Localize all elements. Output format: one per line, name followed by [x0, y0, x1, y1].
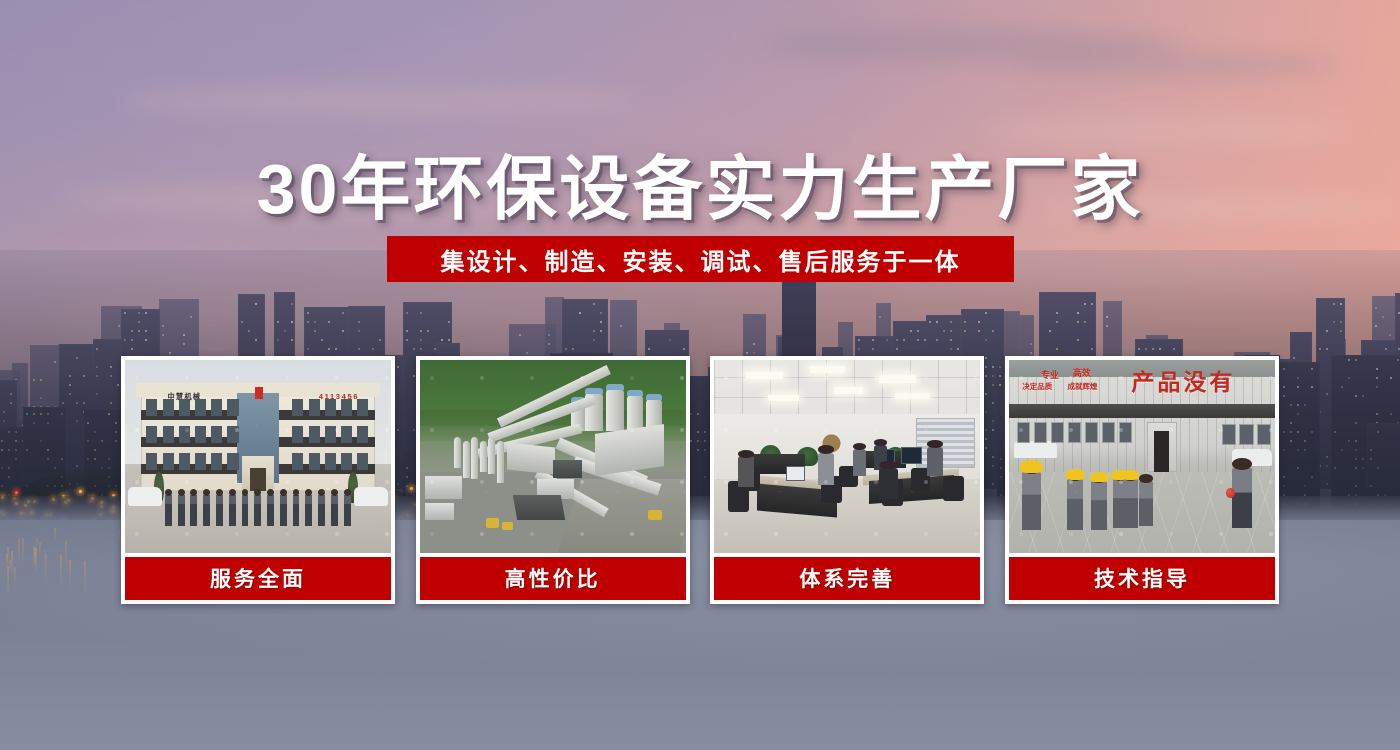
card-caption: 技术指导	[1009, 557, 1275, 600]
feature-card[interactable]: 高性价比	[416, 356, 690, 604]
card-photo-office-building: 中慧机械 4113456	[125, 360, 391, 553]
subtitle-text: 集设计、制造、安装、调试、售后服务于一体	[441, 242, 961, 277]
promo-banner: 30年环保设备实力生产厂家 集设计、制造、安装、调试、售后服务于一体	[0, 0, 1400, 750]
factory-sign-small-2: 高效	[1073, 366, 1091, 379]
feature-card[interactable]: 中慧机械 4113456 服务全面	[121, 356, 395, 604]
factory-sign-small-3: 决定品质	[1022, 381, 1052, 392]
card-photo-industrial-plant	[420, 360, 686, 553]
card-photo-workers-briefing: 产品没有 专业 高效 决定品质 成就辉煌	[1009, 360, 1275, 553]
feature-card-row: 中慧机械 4113456 服务全面 高性价比	[121, 356, 1279, 604]
subtitle-bar: 集设计、制造、安装、调试、售后服务于一体	[387, 236, 1014, 282]
factory-sign-main: 产品没有	[1131, 363, 1235, 397]
card-photo-office-interior	[714, 360, 980, 553]
page-title: 30年环保设备实力生产厂家	[0, 133, 1400, 234]
card-caption: 高性价比	[420, 557, 686, 600]
factory-sign-small-4: 成就辉煌	[1067, 381, 1097, 392]
card-caption: 服务全面	[125, 557, 391, 600]
factory-sign-small-1: 专业	[1041, 368, 1059, 381]
feature-card[interactable]: 体系完善	[710, 356, 984, 604]
feature-card[interactable]: 产品没有 专业 高效 决定品质 成就辉煌	[1005, 356, 1279, 604]
card-caption: 体系完善	[714, 557, 980, 600]
